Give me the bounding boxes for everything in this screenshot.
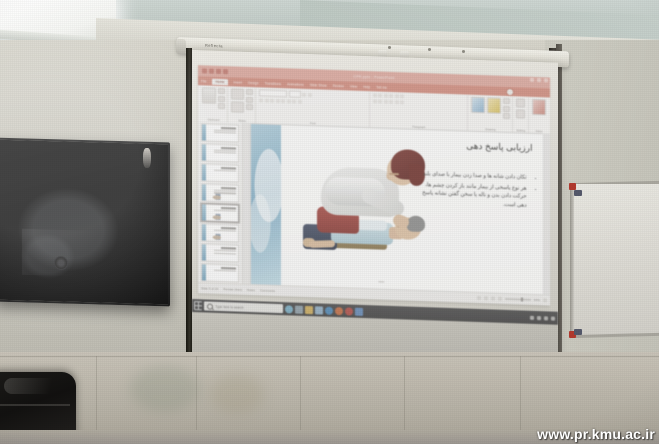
layout-button[interactable] — [231, 101, 244, 112]
slide-title[interactable]: ارزیابی پاسخ دهی — [466, 141, 532, 154]
zoom-slider-handle[interactable] — [521, 297, 523, 302]
slideshow-icon[interactable] — [498, 297, 502, 301]
powerpoint-body: ارزیابی پاسخ دهی — [198, 121, 550, 295]
slide-thumbnail-pane[interactable] — [198, 121, 243, 285]
slide-options-icon[interactable] — [246, 104, 253, 110]
bullets-icon[interactable] — [373, 93, 377, 97]
thumb-illustration — [212, 214, 224, 220]
slide-theme-band — [251, 124, 281, 285]
cpr-illustration[interactable] — [295, 140, 445, 285]
ribbon-group-drawing[interactable]: Drawing — [469, 96, 513, 134]
language-indicator[interactable]: Persian (Iran) — [223, 287, 242, 292]
volume-icon[interactable] — [537, 316, 541, 320]
change-case-icon[interactable] — [292, 99, 296, 103]
shape-effects-icon[interactable] — [503, 113, 510, 119]
whiteboard-bracket-top-icon — [574, 190, 582, 196]
ribbon-group-voice[interactable]: Voice — [530, 98, 548, 135]
arrange-button[interactable] — [487, 97, 501, 113]
wall-screw-icon — [388, 46, 391, 49]
slide-indicator: Slide 5 of 24 — [201, 286, 218, 291]
justify-icon[interactable] — [389, 100, 393, 104]
maximize-icon[interactable] — [537, 78, 541, 82]
slide-thumbnail[interactable] — [201, 184, 239, 203]
patient-arm — [308, 240, 334, 248]
thumb-illustration — [212, 193, 224, 199]
slide-thumbnail[interactable] — [201, 123, 239, 142]
whiteboard-bracket-bottom-icon — [574, 329, 582, 335]
clock-icon[interactable] — [544, 316, 548, 320]
slide-sorter-icon[interactable] — [484, 296, 488, 300]
status-right-cluster[interactable]: 64% — [477, 296, 547, 302]
close-icon[interactable] — [544, 78, 548, 82]
taskbar-search-input[interactable]: Type here to search — [204, 301, 283, 313]
tab-insert[interactable]: Insert — [234, 80, 242, 84]
tab-file[interactable]: File — [201, 79, 206, 83]
task-view-icon[interactable] — [295, 305, 303, 313]
increase-font-icon[interactable] — [302, 92, 306, 96]
current-slide[interactable]: ارزیابی پاسخ دهی — [251, 124, 543, 294]
chair-seam — [0, 404, 70, 406]
replace-icon[interactable] — [516, 109, 525, 118]
normal-view-icon[interactable] — [477, 296, 481, 300]
increase-indent-icon[interactable] — [389, 94, 393, 98]
tab-design[interactable]: Design — [248, 80, 259, 84]
align-left-icon[interactable] — [373, 99, 377, 103]
slide-thumbnail-selected[interactable] — [201, 204, 239, 223]
line-spacing-icon[interactable] — [395, 94, 399, 98]
notifications-icon[interactable] — [551, 316, 555, 320]
rescuer-face — [389, 173, 399, 175]
fit-slide-icon[interactable] — [543, 298, 547, 302]
font-size-selector[interactable] — [289, 90, 301, 97]
shape-outline-icon[interactable] — [503, 105, 510, 111]
network-icon[interactable] — [530, 315, 534, 319]
tab-slide-show[interactable]: Slide Show — [310, 83, 327, 88]
font-color-icon[interactable] — [298, 100, 302, 104]
tv-light-reflection — [143, 148, 151, 168]
new-slide-button[interactable] — [231, 88, 244, 99]
ribbon-group-editing[interactable]: Editing — [514, 97, 529, 134]
projected-desktop: CPR.pptx - PowerPoint File Home Insert D… — [192, 57, 558, 325]
text-direction-icon[interactable] — [400, 94, 404, 98]
ribbon-group-slides[interactable]: Slides — [229, 87, 256, 124]
app-icon[interactable] — [355, 307, 363, 315]
columns-icon[interactable] — [395, 100, 399, 104]
decrease-font-icon[interactable] — [308, 93, 312, 97]
tv-logo-icon — [54, 256, 68, 270]
wall-screw-icon — [462, 50, 465, 53]
ribbon-group-paragraph[interactable]: Paragraph — [371, 92, 468, 131]
wall-screw-icon — [428, 48, 431, 51]
minimize-icon[interactable] — [530, 78, 534, 82]
tab-animations[interactable]: Animations — [287, 82, 304, 87]
slide-body-text[interactable]: تکان دادن شانه ها و صدا زدن بیمار با صدا… — [414, 170, 534, 213]
ribbon-group-font[interactable]: Font — [257, 88, 370, 128]
cut-icon[interactable] — [218, 88, 225, 94]
tv-reflection — [22, 229, 108, 277]
paste-button[interactable] — [202, 87, 216, 103]
comments-button[interactable]: Comments — [260, 288, 275, 293]
slide-canvas[interactable]: ارزیابی پاسخ دهی — [243, 123, 550, 296]
reading-view-icon[interactable] — [491, 296, 495, 300]
powerpoint-window[interactable]: CPR.pptx - PowerPoint File Home Insert D… — [198, 65, 550, 305]
whiteboard-clip-top-icon — [569, 183, 576, 190]
whiteboard — [572, 184, 659, 336]
cortana-icon[interactable] — [285, 305, 293, 313]
tell-me-box[interactable]: Tell me — [376, 85, 387, 89]
classroom-scene: Reflecta CPR.pptx - PowerPoint — [0, 0, 659, 444]
reset-icon[interactable] — [246, 89, 253, 95]
zoom-slider[interactable] — [505, 298, 531, 300]
slide-thumbnail[interactable] — [201, 163, 239, 182]
whiteboard-rail — [570, 186, 574, 336]
slide-credit: www — [379, 281, 385, 284]
file-explorer-icon[interactable] — [305, 305, 313, 313]
start-button-icon[interactable] — [194, 301, 202, 310]
thumb-illustration — [212, 234, 224, 240]
align-right-icon[interactable] — [384, 100, 388, 104]
slide-thumbnail[interactable] — [201, 224, 239, 243]
slide-thumbnail[interactable] — [201, 143, 239, 162]
strikethrough-icon[interactable] — [276, 99, 280, 103]
notes-button[interactable]: Notes — [247, 288, 255, 292]
convert-smartart-icon[interactable] — [400, 100, 404, 104]
slide-thumbnail[interactable] — [201, 264, 239, 283]
store-icon[interactable] — [315, 306, 323, 314]
ribbon-group-clipboard[interactable]: Clipboard — [200, 86, 228, 123]
projector-screen-end-cap — [176, 39, 186, 54]
find-icon[interactable] — [516, 98, 525, 107]
format-painter-icon[interactable] — [218, 103, 225, 109]
patient-hair — [407, 215, 425, 232]
decrease-indent-icon[interactable] — [384, 94, 388, 98]
underline-icon[interactable] — [270, 99, 274, 103]
window-controls[interactable] — [530, 78, 548, 83]
search-placeholder: Type here to search — [215, 304, 243, 309]
chair-highlight — [4, 378, 66, 394]
tab-home[interactable]: Home — [212, 78, 227, 85]
numbering-icon[interactable] — [378, 94, 382, 98]
tab-view[interactable]: View — [350, 84, 357, 88]
site-watermark: www.pr.kmu.ac.ir — [537, 426, 655, 442]
account-avatar[interactable] — [506, 88, 514, 96]
projector-brand-label: Reflecta — [205, 43, 223, 49]
tab-help[interactable]: Help — [363, 84, 370, 88]
shapes-gallery-button[interactable] — [471, 97, 485, 113]
shape-fill-icon[interactable] — [503, 98, 510, 104]
shadow-icon[interactable] — [281, 99, 285, 103]
dictate-icon[interactable] — [532, 99, 546, 115]
italic-icon[interactable] — [265, 99, 269, 103]
zoom-level[interactable]: 64% — [534, 298, 540, 302]
character-spacing-icon[interactable] — [287, 99, 291, 103]
firefox-icon[interactable] — [335, 307, 343, 315]
font-family-selector[interactable] — [259, 89, 287, 97]
bold-icon[interactable] — [259, 98, 263, 102]
slide-thumbnail[interactable] — [201, 244, 239, 263]
system-tray[interactable] — [530, 315, 558, 320]
edge-icon[interactable] — [325, 306, 333, 314]
tab-review[interactable]: Review — [333, 83, 344, 87]
search-icon — [207, 303, 213, 309]
tab-transitions[interactable]: Transitions — [265, 81, 281, 86]
browser-icon[interactable] — [345, 307, 353, 315]
copy-icon[interactable] — [218, 95, 225, 101]
section-icon[interactable] — [246, 96, 253, 102]
align-center-icon[interactable] — [378, 100, 382, 104]
slide-bullet: هر نوع پاسخی از بیمار مانند باز کردن چشم… — [414, 180, 527, 210]
